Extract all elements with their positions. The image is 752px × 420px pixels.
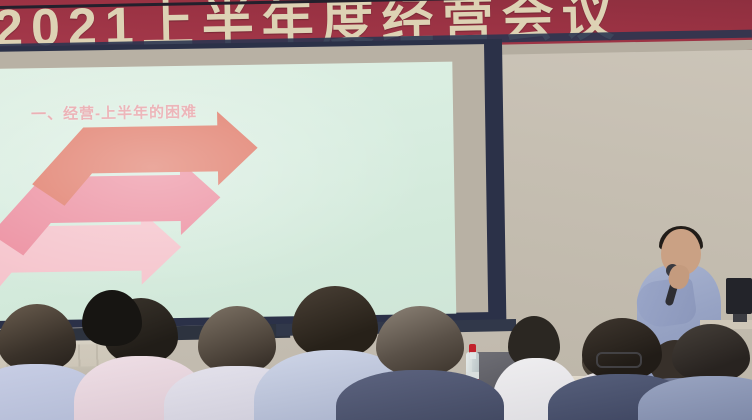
audience-head [198,306,276,374]
audience-head [376,306,464,376]
audience-member-front-dark-hair [52,270,148,420]
audience-shoulders [638,376,752,420]
audience-member-front-5 [350,308,486,420]
desk-monitor [726,278,752,314]
audience-head [582,318,662,380]
audience-head [672,324,750,382]
audience-shoulders [336,370,504,420]
monitor-stand [733,313,747,322]
audience-head [82,290,142,346]
audience-member-front-7 [652,330,752,420]
eyeglasses-icon [596,352,642,368]
conference-room-photo: 2021上半年度经营会议 一、经营-上半年的困难 [0,0,752,420]
